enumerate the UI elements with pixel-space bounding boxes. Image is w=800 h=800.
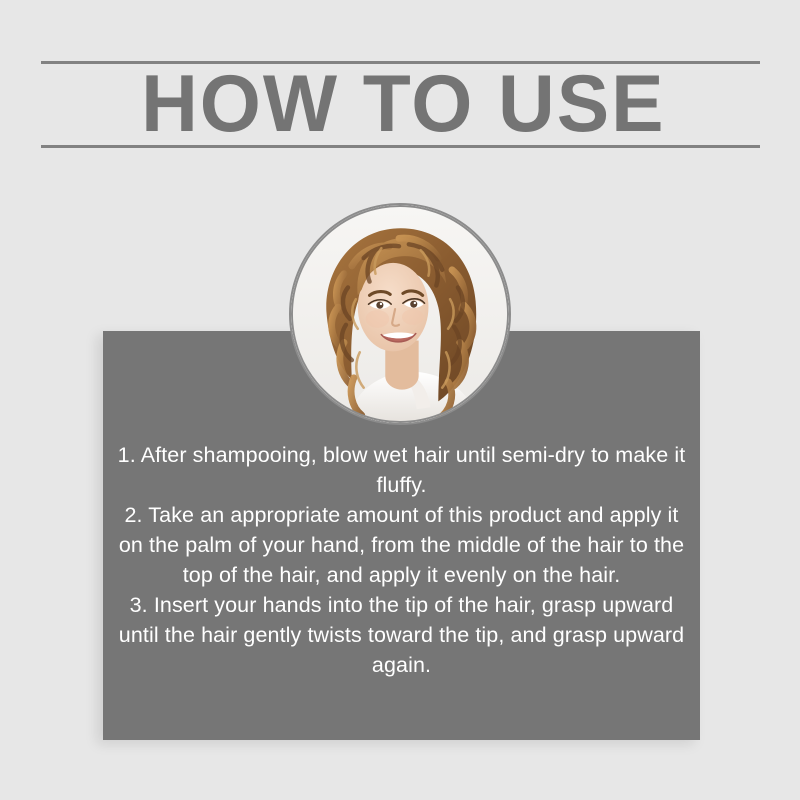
header-block: HOW TO USE [41,61,760,148]
how-to-use-poster: HOW TO USE [0,0,800,800]
instruction-step-2: 2. Take an appropriate amount of this pr… [103,500,700,590]
portrait-avatar [289,203,511,425]
title-row: HOW TO USE [41,64,760,145]
instruction-step-1: 1. After shampooing, blow wet hair until… [103,440,700,500]
instruction-step-3: 3. Insert your hands into the tip of the… [103,590,700,680]
page-title: HOW TO USE [141,64,665,145]
instructions-text: 1. After shampooing, blow wet hair until… [103,440,700,680]
portrait-illustration [291,205,509,423]
